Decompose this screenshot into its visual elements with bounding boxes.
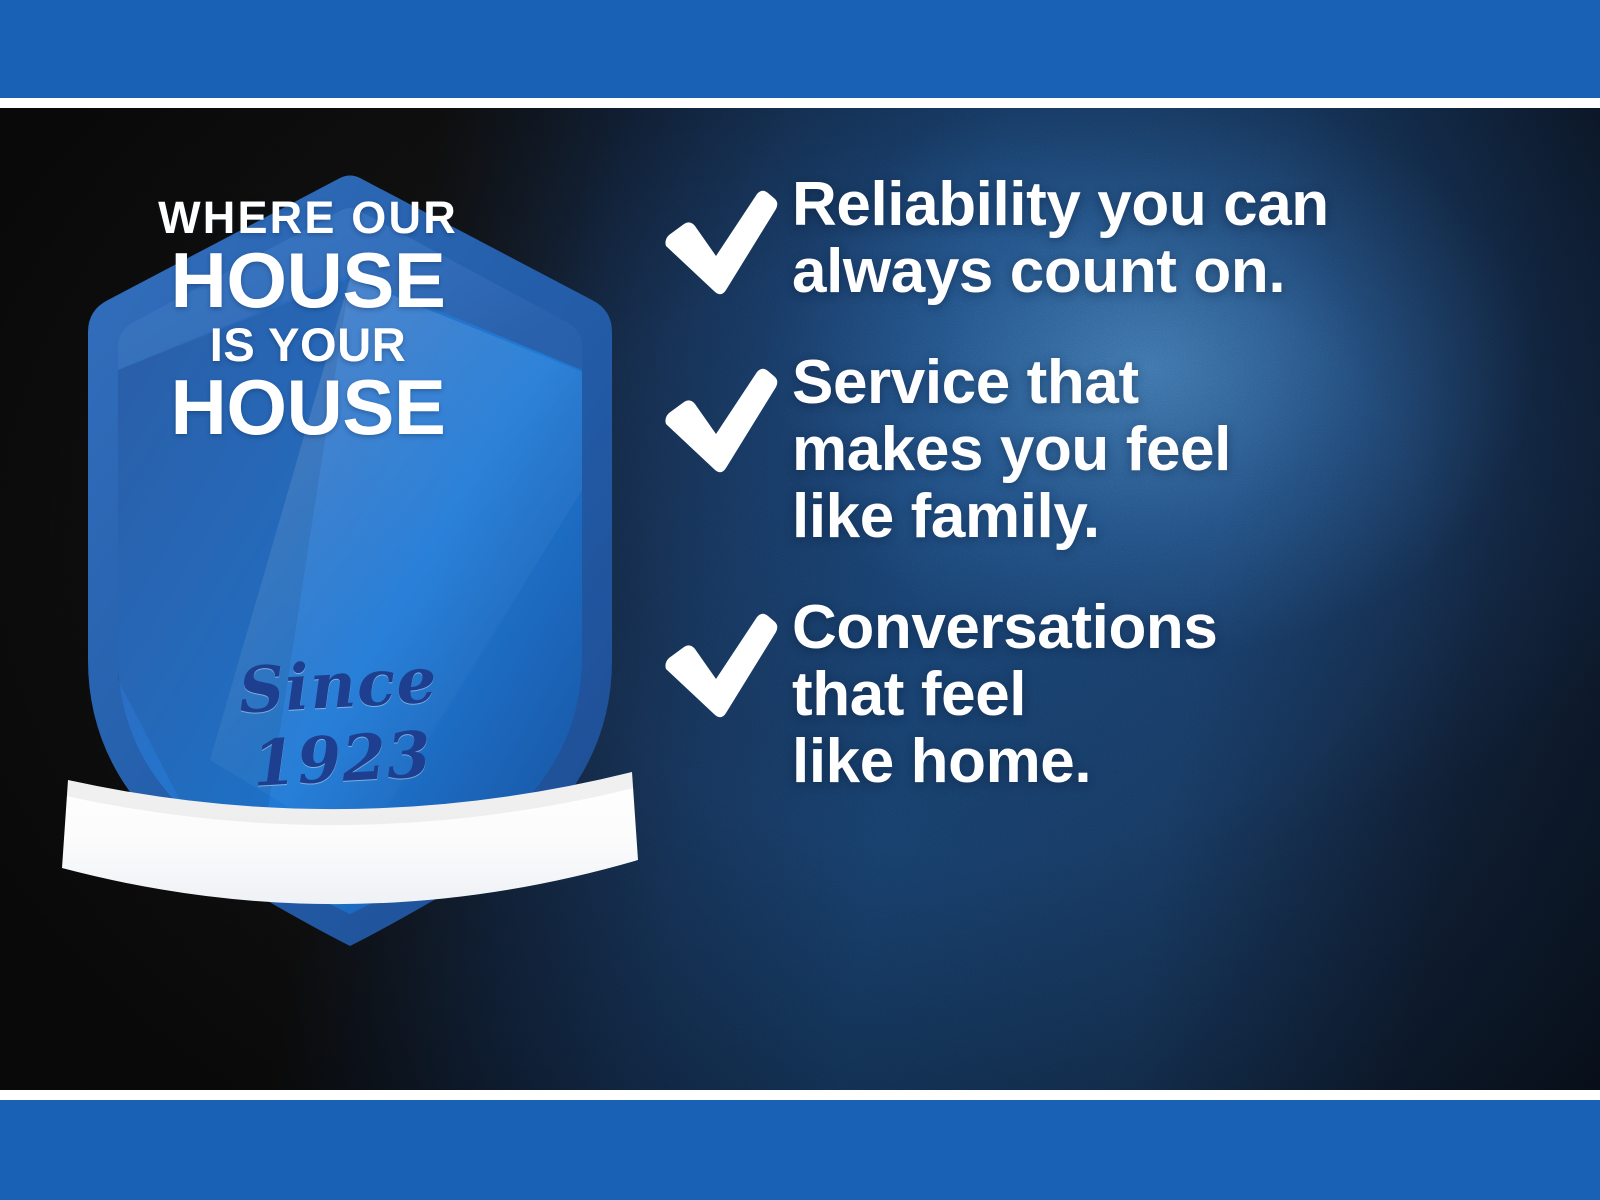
list-item-text: Reliability you can always count on. (792, 172, 1520, 306)
list-item: Conversations that feel like home. (660, 595, 1520, 796)
check-icon (660, 595, 792, 721)
top-divider (0, 98, 1600, 108)
list-item: Service that makes you feel like family. (660, 350, 1520, 551)
benefits-list: Reliability you can always count on. Ser… (660, 172, 1520, 796)
check-icon (660, 350, 792, 476)
bottom-accent-bar (0, 1100, 1600, 1200)
check-icon (660, 172, 792, 298)
shield-emblem (60, 160, 640, 950)
promo-card: WHERE OUR HOUSE IS YOUR HOUSE Since 1923… (0, 0, 1600, 1200)
bottom-divider (0, 1090, 1600, 1100)
list-item: Reliability you can always count on. (660, 172, 1520, 306)
list-item-text: Service that makes you feel like family. (792, 350, 1520, 551)
list-item-text: Conversations that feel like home. (792, 595, 1520, 796)
top-accent-bar (0, 0, 1600, 98)
